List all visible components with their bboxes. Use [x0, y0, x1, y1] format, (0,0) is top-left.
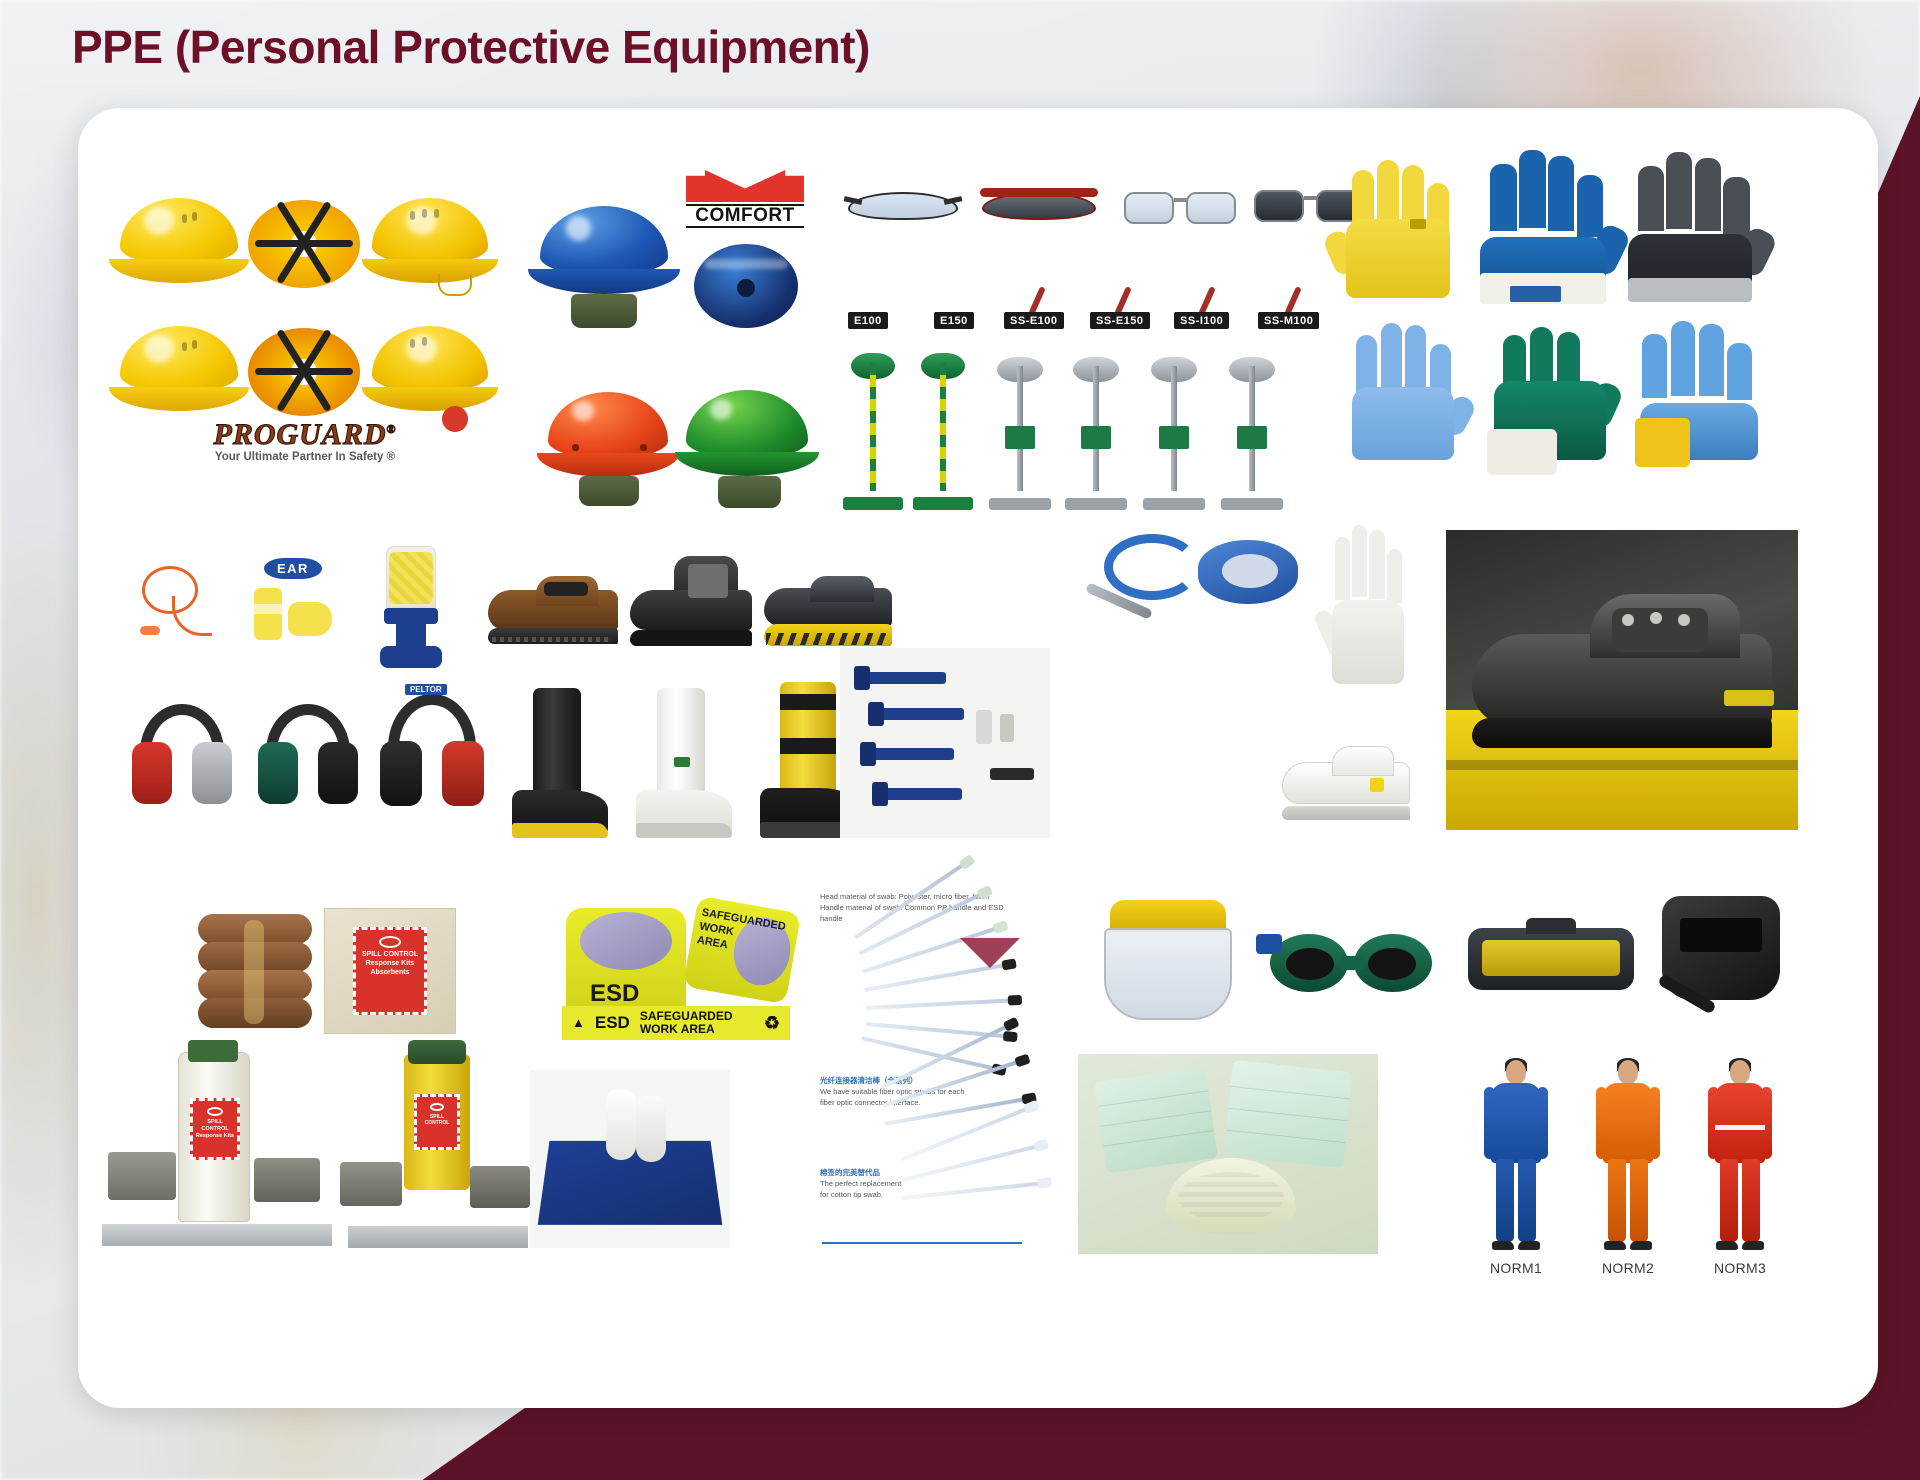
spill-placard-sub1-1: Response Kits	[358, 960, 422, 969]
eyewash-label-2: SS-E100	[1004, 312, 1064, 329]
swab-note-top: Head material of swab: Polyester, micro …	[820, 892, 1020, 925]
photo-safety-glasses	[838, 160, 1290, 286]
photo-hearing-row2: PELTOR	[118, 684, 468, 820]
helmet-yellow-rear-1	[372, 198, 488, 290]
helmet-yellow-suspension-1	[248, 200, 360, 288]
esd-roll-text-1: ESD	[590, 980, 639, 1008]
photo-helmets-yellow-row1	[110, 176, 500, 308]
page-title: PPE (Personal Protective Equipment)	[72, 20, 870, 74]
esd-coil-cord	[1104, 534, 1200, 600]
eyewash-station-1	[842, 350, 904, 510]
comfort-m-icon	[686, 170, 804, 202]
spill-placard-title-2: SPILL CONTROL	[195, 1119, 235, 1133]
esd-symbol-icon: ▲	[572, 1016, 585, 1030]
esd-banner-line2: WORK AREA	[640, 1023, 733, 1036]
spill-control-placard-3: SPILL CONTROL	[414, 1094, 460, 1150]
spill-carton: SPILL CONTROL Response Kits Absorbents	[324, 908, 456, 1034]
comfort-wordmark: COMFORT	[686, 204, 804, 228]
face-shield-yellow	[1098, 900, 1238, 1028]
bootie-right	[636, 1096, 666, 1162]
photo-esd-tape: ESD SAFEGUARDED WORK AREA ▲ ESD SAFEGUAR…	[558, 898, 798, 1038]
esd-banner: ▲ ESD SAFEGUARDED WORK AREA ♻	[562, 1006, 790, 1040]
goggles-green-cup	[1264, 916, 1438, 1004]
glove-yellow-leather	[1346, 170, 1450, 298]
proguard-registered: ®	[387, 422, 397, 436]
earplugs-foam-ear: EAR	[248, 558, 340, 650]
photo-cleanroom-glove	[1330, 526, 1410, 716]
coverall-worker-2: NORM2	[1586, 1060, 1670, 1250]
eyewash-station-5	[1142, 354, 1206, 510]
spill-absorbent-pads-2	[254, 1158, 320, 1202]
photo-coveralls: NORM1 NORM2	[1468, 1054, 1788, 1284]
photo-esd-brushes	[840, 648, 1050, 838]
boot-white-pvc	[636, 688, 732, 838]
dust-mask-cup	[1166, 1158, 1296, 1234]
glove-green-chemical	[1494, 332, 1606, 460]
spill-placard-title-3: SPILL CONTROL	[419, 1114, 455, 1127]
earmuff-green-black	[258, 704, 358, 804]
eyewash-label-0: E100	[848, 312, 888, 329]
photo-spill-booms: SPILL CONTROL Response Kits Absorbents	[188, 898, 478, 1046]
photo-hearing-row1: EAR	[118, 544, 468, 674]
helmet-orange-mannequin	[548, 392, 668, 484]
bootie-left	[606, 1090, 636, 1160]
proguard-wordmark: PROGUARD	[214, 418, 387, 451]
glasses-smoke-sport	[978, 182, 1100, 236]
eyewash-station-4	[1064, 354, 1128, 510]
photo-esd-white-shoe	[1266, 718, 1426, 844]
ear-brand-logo: EAR	[264, 558, 322, 579]
shoe-black-display	[1472, 594, 1772, 754]
photo-gloves-row1	[1328, 156, 1798, 312]
photo-eyewash-labels: E100 E150 SS-E100 SS-E150 SS-I100 SS-M10…	[838, 290, 1290, 336]
photo-esd-floor-mat	[530, 1070, 730, 1248]
eyewash-label-1: E150	[934, 312, 974, 329]
helmet-blue-mannequin	[540, 206, 668, 302]
photo-spill-kit-drum: SPILL CONTROL Response Kits	[102, 1046, 332, 1246]
spill-placard-title-1: SPILL CONTROL	[358, 951, 422, 960]
helmet-green-mannequin	[686, 390, 808, 484]
swab-5	[866, 998, 1020, 1006]
spill-boom-coil	[198, 914, 312, 1032]
helmet-yellow-side-1	[120, 198, 238, 290]
esd-banner-mark: ESD	[595, 1014, 630, 1032]
glove-white-cleanroom	[1332, 534, 1404, 684]
helmet-navy-top	[694, 244, 798, 328]
earplug-dispenser	[376, 546, 446, 668]
photo-helmets-yellow-row2: PROGUARD® Your Ultimate Partner In Safet…	[110, 316, 500, 466]
esd-tape-roll-2: SAFEGUARDED WORK AREA	[683, 896, 801, 1005]
earmuff-peltor: PELTOR	[380, 694, 484, 806]
spill-absorbent-pads-1	[108, 1152, 176, 1200]
peltor-brand-label: PELTOR	[405, 684, 447, 695]
coverall-label-2: NORM2	[1586, 1260, 1670, 1276]
photo-eyewash-stations	[838, 340, 1290, 516]
earplugs-corded-orange	[138, 562, 212, 638]
photo-face-protection	[1088, 892, 1788, 1044]
welding-shield-handheld	[1654, 896, 1784, 1036]
photo-esd-wrist-strap	[1078, 528, 1308, 668]
eyewash-label-4: SS-I100	[1174, 312, 1229, 329]
helmet-yellow-strap-2	[372, 326, 488, 418]
worker-head-3	[1730, 1060, 1750, 1085]
glasses-clear-wrap	[844, 184, 962, 236]
esd-roll-text-2: SAFEGUARDED WORK AREA	[696, 907, 768, 959]
boot-black-rubber	[512, 688, 608, 838]
coverall-label-3: NORM3	[1698, 1260, 1782, 1276]
spill-control-placard-2: SPILL CONTROL Response Kits	[190, 1098, 240, 1160]
shoe-black-sport	[764, 576, 892, 646]
eyewash-station-2	[912, 350, 974, 510]
swab-note-mid-heading: 光纤连接器清洁棒（全系列）	[820, 1076, 1020, 1087]
photo-safety-boots	[478, 676, 878, 848]
helmet-yellow-suspension-2	[248, 328, 360, 416]
coverall-label-1: NORM1	[1474, 1260, 1558, 1276]
proguard-tagline: Your Ultimate Partner In Safety ®	[190, 451, 420, 463]
goggles-flip-front-welding	[1468, 918, 1634, 1004]
glove-pvc-gauntlet	[1640, 336, 1758, 460]
content-card: PROGUARD® Your Ultimate Partner In Safet…	[78, 108, 1878, 1408]
surgical-mask-1	[1094, 1067, 1218, 1174]
recycle-icon: ♻	[764, 1014, 780, 1033]
glove-blue-nitrile	[1480, 164, 1606, 304]
worker-head-1	[1506, 1060, 1526, 1085]
coverall-worker-3: NORM3	[1698, 1060, 1782, 1250]
spill-placard-sub2-1: Absorbents	[358, 969, 422, 978]
helmet-yellow-side-2	[120, 326, 238, 418]
eyewash-label-5: SS-M100	[1258, 312, 1319, 329]
esd-tape-roll-1: ESD	[566, 908, 686, 1022]
logo-proguard: PROGUARD® Your Ultimate Partner In Safet…	[190, 420, 420, 463]
spill-placard-sub1-2: Response Kits	[195, 1133, 235, 1140]
eyewash-station-3	[988, 354, 1052, 510]
boot-black-midcut	[630, 556, 752, 646]
shoe-white-esd	[1282, 746, 1410, 820]
photo-helmets-comfort: COMFORT	[536, 166, 821, 366]
glasses-clear-metal	[1120, 178, 1240, 240]
eyewash-label-3: SS-E150	[1090, 312, 1150, 329]
earmuff-red-grey	[132, 704, 232, 804]
surgical-mask-2	[1223, 1060, 1352, 1168]
photo-shoe-display	[1446, 530, 1798, 830]
coverall-worker-1: NORM1	[1474, 1060, 1558, 1250]
worker-head-2	[1618, 1060, 1638, 1085]
spill-control-placard-1: SPILL CONTROL Response Kits Absorbents	[353, 927, 427, 1015]
shoe-brown-lowcut	[488, 572, 618, 644]
photo-fiber-swabs: Head material of swab: Polyester, micro …	[814, 890, 1114, 1250]
glove-grey-cut-resistant	[1628, 166, 1752, 302]
photo-safety-shoes	[478, 538, 878, 678]
logo-comfort: COMFORT	[686, 170, 804, 228]
photo-respiratory-masks	[1078, 1054, 1378, 1254]
photo-spill-kit-trolley: SPILL CONTROL	[338, 1038, 538, 1248]
eyewash-station-6	[1220, 354, 1284, 510]
photo-helmets-orange-green	[536, 376, 821, 516]
photo-gloves-row2	[1328, 316, 1798, 486]
glove-blue-disposable	[1352, 342, 1454, 460]
